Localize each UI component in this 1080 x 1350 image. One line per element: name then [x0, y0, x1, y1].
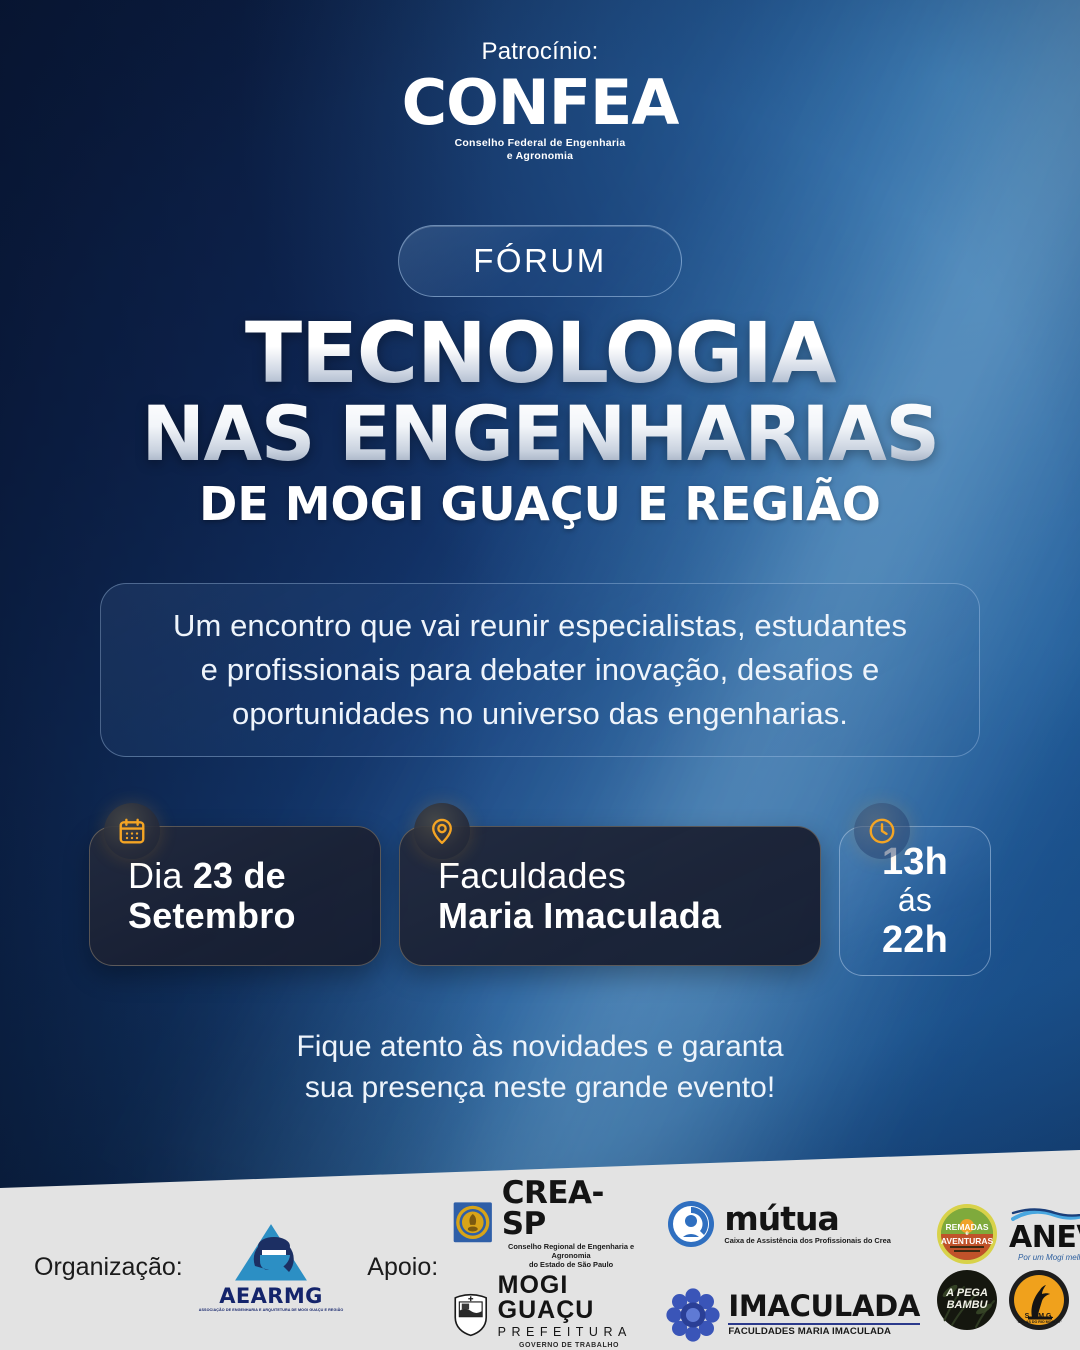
pega-bambu-logo: A PEGA BAMBU — [936, 1269, 998, 1331]
page-title: TECNOLOGIA NAS ENGENHARIAS DE MOGI GUAÇU… — [0, 312, 1080, 530]
location-pin-icon — [414, 803, 470, 859]
aearmg-logo: AEARMG ASSOCIAÇÃO DE ENGENHARIA E ARQUIT… — [199, 1222, 344, 1312]
remadas-aventuras-logo: REMADAS e AVENTURAS — [936, 1203, 998, 1265]
samg-line-1: S.A.M.G. — [1025, 1313, 1054, 1320]
description-line-3: oportunidades no universo das engenharia… — [173, 692, 907, 736]
cta-line-2: sua presença neste grande evento! — [0, 1067, 1080, 1108]
organizacao-label: Organização: — [34, 1253, 183, 1282]
description-wrapper: Um encontro que vai reunir especialistas… — [0, 583, 1080, 757]
date-card-line-1: Dia 23 de — [128, 856, 354, 896]
time-card-separator: ás — [898, 883, 932, 919]
date-prefix: Dia — [128, 855, 193, 896]
aearmg-mark-icon — [233, 1222, 309, 1286]
imaculada-flower-icon — [666, 1288, 720, 1342]
mogi-guacu-prefeitura: PREFEITURA — [498, 1326, 641, 1339]
sponsor-header: Patrocínio: CONFEA Conselho Federal de E… — [0, 38, 1080, 164]
cta-line-1: Fique atento às novidades e garanta — [0, 1026, 1080, 1067]
anev-logo: ANEV Por um Mogi melhor — [1008, 1207, 1080, 1262]
sponsor-label: Patrocínio: — [0, 38, 1080, 66]
location-card-line-2: Maria Imaculada — [438, 896, 796, 936]
mutua-emblem-icon — [666, 1199, 716, 1249]
info-card-time: 13h ás 22h — [839, 826, 991, 976]
date-value: 23 de — [193, 855, 286, 896]
mutua-subtitle: Caixa de Assistência dos Profissionais d… — [724, 1237, 891, 1246]
location-card-line-1: Faculdades — [438, 856, 796, 896]
remadas-line-3: AVENTURAS — [941, 1237, 993, 1246]
aearmg-wordmark: AEARMG — [219, 1286, 323, 1307]
confea-subtitle-line1: Conselho Federal de Engenharia — [0, 137, 1080, 150]
forum-badge: FÓRUM — [398, 225, 682, 297]
time-card-end: 22h — [882, 919, 948, 962]
info-card-date: Dia 23 de Setembro — [89, 826, 381, 966]
crea-sp-wordmark: CREA-SP — [502, 1178, 641, 1240]
imaculada-wordmark: IMACULADA — [728, 1292, 920, 1321]
anev-tagline: Por um Mogi melhor — [1018, 1254, 1080, 1262]
apoio-secondary-logos: REMADAS e AVENTURAS ANEV Por um Mogi mel… — [936, 1203, 1080, 1331]
samg-line-2: SEM SIGLAS DO RIO MOGI GUAÇU — [1009, 1321, 1070, 1325]
confea-logo-wordmark: CONFEA — [0, 72, 1080, 134]
info-cards: Dia 23 de Setembro Faculdades Maria Imac… — [0, 826, 1080, 976]
remadas-line-1: REMADAS — [946, 1223, 989, 1232]
call-to-action: Fique atento às novidades e garanta sua … — [0, 1026, 1080, 1109]
mogi-guacu-wordmark: MOGI GUAÇU — [498, 1273, 641, 1323]
imaculada-rule — [728, 1323, 920, 1325]
poster-root: Patrocínio: CONFEA Conselho Federal de E… — [0, 0, 1080, 1350]
info-card-location: Faculdades Maria Imaculada — [399, 826, 821, 966]
title-line-3: DE MOGI GUAÇU E REGIÃO — [0, 480, 1080, 530]
confea-subtitle-line2: e Agronomia — [0, 150, 1080, 163]
imaculada-logo: IMACULADA FACULDADES MARIA IMACULADA — [666, 1288, 920, 1342]
mutua-wordmark: mútua — [724, 1202, 891, 1235]
forum-badge-wrapper: FÓRUM — [0, 225, 1080, 297]
description-line-1: Um encontro que vai reunir especialistas… — [173, 604, 907, 648]
mogi-guacu-tagline: GOVERNO DE TRABALHO — [498, 1342, 641, 1350]
apoio-logo-grid: CREA-SP Conselho Regional de Engenharia … — [452, 1178, 920, 1350]
crea-sp-emblem-icon — [452, 1196, 494, 1252]
aearmg-subtitle: ASSOCIAÇÃO DE ENGENHARIA E ARQUITETURA D… — [199, 1308, 344, 1312]
description-text: Um encontro que vai reunir especialistas… — [173, 604, 907, 736]
organizacao-block: Organização: AEARMG ASSOCIAÇÃO DE ENGENH… — [34, 1222, 343, 1312]
footer-logos-bar: Organização: AEARMG ASSOCIAÇÃO DE ENGENH… — [0, 1184, 1080, 1350]
crea-sp-subtitle-1: Conselho Regional de Engenharia e Agrono… — [502, 1242, 641, 1260]
title-line-2: NAS ENGENHARIAS — [0, 396, 1080, 472]
mogi-guacu-logo: MOGI GUAÇU PREFEITURA GOVERNO DE TRABALH… — [452, 1273, 640, 1350]
description-line-2: e profissionais para debater inovação, d… — [173, 648, 907, 692]
samg-logo: S.A.M.G. SEM SIGLAS DO RIO MOGI GUAÇU — [1008, 1269, 1070, 1331]
apoio-label: Apoio: — [367, 1253, 438, 1282]
crea-sp-logo: CREA-SP Conselho Regional de Engenharia … — [452, 1178, 640, 1269]
mutua-logo: mútua Caixa de Assistência dos Profissio… — [666, 1199, 920, 1249]
crea-sp-subtitle-2: do Estado de São Paulo — [502, 1260, 641, 1269]
calendar-icon — [104, 803, 160, 859]
date-card-line-2: Setembro — [128, 896, 354, 936]
description-box: Um encontro que vai reunir especialistas… — [100, 583, 980, 757]
title-line-1: TECNOLOGIA — [0, 312, 1080, 394]
clock-icon — [854, 803, 910, 859]
pega-bambu-line-2: BAMBU — [947, 1300, 988, 1312]
forum-badge-label: FÓRUM — [473, 242, 606, 280]
confea-logo-subtitle: Conselho Federal de Engenharia e Agronom… — [0, 137, 1080, 164]
mogi-guacu-coat-of-arms-icon — [452, 1288, 489, 1342]
anev-wordmark: ANEV — [1009, 1223, 1080, 1253]
imaculada-subtitle: FACULDADES MARIA IMACULADA — [728, 1327, 920, 1337]
